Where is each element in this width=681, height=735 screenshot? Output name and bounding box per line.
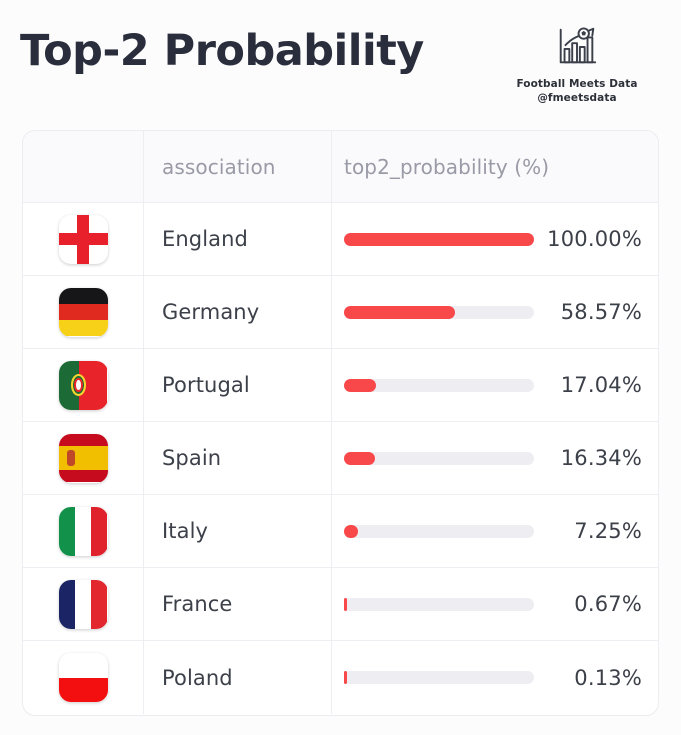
cell-association: Portugal — [144, 349, 332, 421]
italy-flag — [59, 507, 108, 556]
poland-flag — [59, 653, 108, 702]
page-title: Top-2 Probability — [20, 26, 424, 76]
cell-probability: 58.57% — [332, 276, 658, 348]
cell-probability: 0.67% — [332, 568, 658, 640]
probability-bar — [344, 379, 534, 392]
cell-association: Spain — [144, 422, 332, 494]
bar-track — [344, 671, 534, 684]
bar-fill — [344, 379, 376, 392]
brand-block: Football Meets Data @fmeetsdata — [497, 24, 657, 105]
cell-association: England — [144, 203, 332, 275]
cell-flag — [23, 422, 144, 494]
probability-bar — [344, 671, 534, 684]
association-label: Italy — [162, 519, 208, 543]
table-row[interactable]: Poland 0.13% — [23, 641, 658, 714]
probability-value: 17.04% — [534, 373, 644, 397]
table-row[interactable]: Spain 16.34% — [23, 422, 658, 495]
cell-probability: 7.25% — [332, 495, 658, 567]
france-flag — [59, 580, 108, 629]
cell-probability: 100.00% — [332, 203, 658, 275]
probability-table-card: association top2_probability (%) England — [22, 130, 659, 716]
cell-flag — [23, 641, 144, 714]
bar-fill — [344, 452, 375, 465]
bar-fill — [344, 671, 347, 684]
cell-flag — [23, 276, 144, 348]
association-label: France — [162, 592, 232, 616]
bar-track — [344, 598, 534, 611]
brand-handle: @fmeetsdata — [497, 91, 657, 105]
association-label: Poland — [162, 666, 233, 690]
bar-fill — [344, 525, 358, 538]
association-label: Spain — [162, 446, 221, 470]
cell-association: Poland — [144, 641, 332, 714]
cell-flag — [23, 495, 144, 567]
table-row[interactable]: France 0.67% — [23, 568, 658, 641]
header-cell-association: association — [144, 131, 332, 202]
cell-flag — [23, 349, 144, 421]
header: Top-2 Probability Football Meets Data @f… — [0, 0, 681, 120]
probability-bar — [344, 306, 534, 319]
table-header-row: association top2_probability (%) — [23, 131, 658, 203]
probability-value: 16.34% — [534, 446, 644, 470]
brand-name: Football Meets Data — [497, 77, 657, 91]
infographic-page: Top-2 Probability Football Meets Data @f… — [0, 0, 681, 735]
probability-bar — [344, 525, 534, 538]
probability-bar — [344, 598, 534, 611]
header-label-probability: top2_probability (%) — [344, 155, 549, 179]
cell-probability: 0.13% — [332, 641, 658, 714]
portugal-flag — [59, 361, 108, 410]
cell-association: Italy — [144, 495, 332, 567]
cell-association: Germany — [144, 276, 332, 348]
spain-flag — [59, 434, 108, 483]
bar-fill — [344, 306, 455, 319]
cell-probability: 16.34% — [332, 422, 658, 494]
association-label: Germany — [162, 300, 259, 324]
header-cell-probability: top2_probability (%) — [332, 131, 658, 202]
table-row[interactable]: England 100.00% — [23, 203, 658, 276]
header-cell-flag — [23, 131, 144, 202]
probability-value: 100.00% — [534, 227, 644, 251]
bar-fill — [344, 233, 534, 246]
cell-probability: 17.04% — [332, 349, 658, 421]
bar-chart-football-icon — [554, 24, 600, 70]
table-row[interactable]: Italy 7.25% — [23, 495, 658, 568]
germany-flag — [59, 288, 108, 337]
probability-bar — [344, 233, 534, 246]
table-row[interactable]: Portugal 17.04% — [23, 349, 658, 422]
probability-value: 7.25% — [534, 519, 644, 543]
cell-flag — [23, 203, 144, 275]
bar-fill — [344, 598, 347, 611]
cell-flag — [23, 568, 144, 640]
association-label: England — [162, 227, 248, 251]
probability-value: 58.57% — [534, 300, 644, 324]
probability-value: 0.13% — [534, 666, 644, 690]
cell-association: France — [144, 568, 332, 640]
association-label: Portugal — [162, 373, 250, 397]
table-row[interactable]: Germany 58.57% — [23, 276, 658, 349]
header-label-association: association — [162, 155, 276, 179]
probability-bar — [344, 452, 534, 465]
england-flag — [59, 215, 108, 264]
probability-value: 0.67% — [534, 592, 644, 616]
bar-track — [344, 525, 534, 538]
